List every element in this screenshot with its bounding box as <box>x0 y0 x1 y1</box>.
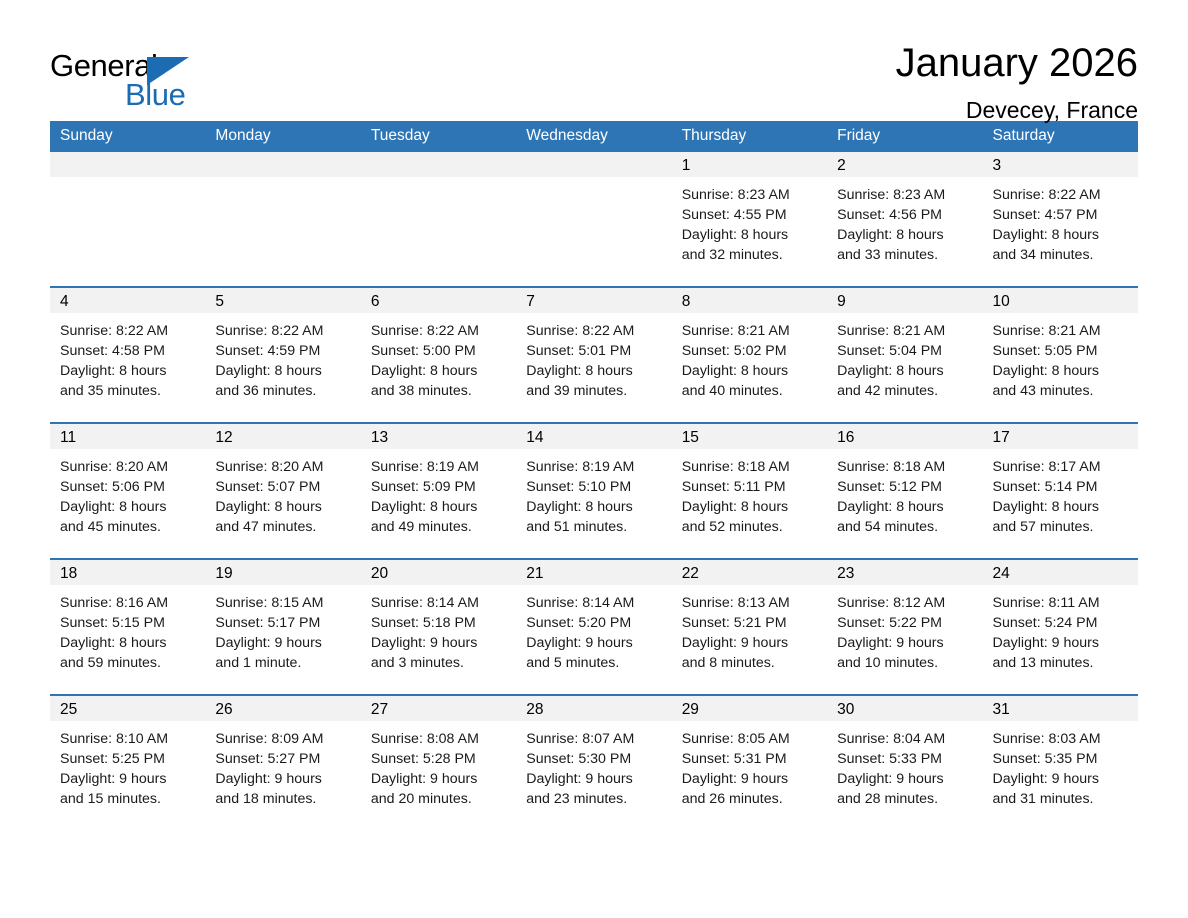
daylight-text-line2: and 39 minutes. <box>526 381 665 401</box>
calendar-day-cell[interactable]: 24 Sunrise: 8:11 AM Sunset: 5:24 PM Dayl… <box>983 559 1138 695</box>
sunrise-text: Sunrise: 8:20 AM <box>215 457 354 477</box>
calendar-day-cell[interactable]: 5 Sunrise: 8:22 AM Sunset: 4:59 PM Dayli… <box>205 287 360 423</box>
sunset-text: Sunset: 5:21 PM <box>682 613 821 633</box>
day-number: 30 <box>827 696 982 721</box>
day-details: Sunrise: 8:05 AM Sunset: 5:31 PM Dayligh… <box>672 721 827 809</box>
day-details: Sunrise: 8:07 AM Sunset: 5:30 PM Dayligh… <box>516 721 671 809</box>
day-number: 18 <box>50 560 205 585</box>
daylight-text-line1: Daylight: 8 hours <box>993 225 1132 245</box>
sunset-text: Sunset: 5:17 PM <box>215 613 354 633</box>
daylight-text-line2: and 26 minutes. <box>682 789 821 809</box>
calendar-day-cell[interactable]: 3 Sunrise: 8:22 AM Sunset: 4:57 PM Dayli… <box>983 152 1138 287</box>
daylight-text-line2: and 23 minutes. <box>526 789 665 809</box>
daylight-text-line1: Daylight: 9 hours <box>215 769 354 789</box>
sunset-text: Sunset: 4:57 PM <box>993 205 1132 225</box>
day-details: Sunrise: 8:08 AM Sunset: 5:28 PM Dayligh… <box>361 721 516 809</box>
calendar-day-cell[interactable]: 16 Sunrise: 8:18 AM Sunset: 5:12 PM Dayl… <box>827 423 982 559</box>
calendar-day-cell[interactable]: 9 Sunrise: 8:21 AM Sunset: 5:04 PM Dayli… <box>827 287 982 423</box>
sunset-text: Sunset: 5:18 PM <box>371 613 510 633</box>
daylight-text-line1: Daylight: 8 hours <box>60 633 199 653</box>
sunrise-text: Sunrise: 8:22 AM <box>215 321 354 341</box>
day-details: Sunrise: 8:12 AM Sunset: 5:22 PM Dayligh… <box>827 585 982 673</box>
day-number <box>50 152 205 177</box>
daylight-text-line1: Daylight: 8 hours <box>682 225 821 245</box>
sunrise-text: Sunrise: 8:18 AM <box>837 457 976 477</box>
day-details: Sunrise: 8:23 AM Sunset: 4:55 PM Dayligh… <box>672 177 827 265</box>
day-number: 1 <box>672 152 827 177</box>
sunrise-text: Sunrise: 8:16 AM <box>60 593 199 613</box>
daylight-text-line1: Daylight: 8 hours <box>837 225 976 245</box>
daylight-text-line2: and 15 minutes. <box>60 789 199 809</box>
calendar-day-cell[interactable]: 19 Sunrise: 8:15 AM Sunset: 5:17 PM Dayl… <box>205 559 360 695</box>
daylight-text-line2: and 32 minutes. <box>682 245 821 265</box>
page-header: General Blue January 2026 Devecey, Franc… <box>50 0 1138 104</box>
calendar-day-cell[interactable]: 12 Sunrise: 8:20 AM Sunset: 5:07 PM Dayl… <box>205 423 360 559</box>
calendar-day-cell[interactable] <box>50 152 205 287</box>
day-details: Sunrise: 8:16 AM Sunset: 5:15 PM Dayligh… <box>50 585 205 673</box>
day-number: 6 <box>361 288 516 313</box>
day-details: Sunrise: 8:04 AM Sunset: 5:33 PM Dayligh… <box>827 721 982 809</box>
day-number: 17 <box>983 424 1138 449</box>
daylight-text-line1: Daylight: 9 hours <box>837 633 976 653</box>
daylight-text-line1: Daylight: 9 hours <box>837 769 976 789</box>
day-number: 31 <box>983 696 1138 721</box>
calendar-day-cell[interactable]: 1 Sunrise: 8:23 AM Sunset: 4:55 PM Dayli… <box>672 152 827 287</box>
calendar-day-cell[interactable]: 29 Sunrise: 8:05 AM Sunset: 5:31 PM Dayl… <box>672 695 827 830</box>
calendar-day-cell[interactable]: 21 Sunrise: 8:14 AM Sunset: 5:20 PM Dayl… <box>516 559 671 695</box>
day-number: 19 <box>205 560 360 585</box>
sunset-text: Sunset: 5:25 PM <box>60 749 199 769</box>
day-details: Sunrise: 8:22 AM Sunset: 4:58 PM Dayligh… <box>50 313 205 401</box>
calendar-page: General Blue January 2026 Devecey, Franc… <box>0 0 1188 918</box>
calendar-day-cell[interactable]: 15 Sunrise: 8:18 AM Sunset: 5:11 PM Dayl… <box>672 423 827 559</box>
sunset-text: Sunset: 5:20 PM <box>526 613 665 633</box>
day-details: Sunrise: 8:21 AM Sunset: 5:04 PM Dayligh… <box>827 313 982 401</box>
daylight-text-line1: Daylight: 9 hours <box>682 769 821 789</box>
day-number: 25 <box>50 696 205 721</box>
daylight-text-line1: Daylight: 8 hours <box>682 497 821 517</box>
calendar-week-row: 18 Sunrise: 8:16 AM Sunset: 5:15 PM Dayl… <box>50 559 1138 695</box>
sunset-text: Sunset: 4:58 PM <box>60 341 199 361</box>
calendar-day-cell[interactable]: 14 Sunrise: 8:19 AM Sunset: 5:10 PM Dayl… <box>516 423 671 559</box>
sunset-text: Sunset: 5:22 PM <box>837 613 976 633</box>
calendar-day-cell[interactable] <box>361 152 516 287</box>
daylight-text-line2: and 40 minutes. <box>682 381 821 401</box>
daylight-text-line2: and 10 minutes. <box>837 653 976 673</box>
daylight-text-line2: and 42 minutes. <box>837 381 976 401</box>
day-number: 22 <box>672 560 827 585</box>
day-details: Sunrise: 8:23 AM Sunset: 4:56 PM Dayligh… <box>827 177 982 265</box>
calendar-day-cell[interactable]: 28 Sunrise: 8:07 AM Sunset: 5:30 PM Dayl… <box>516 695 671 830</box>
sunset-text: Sunset: 5:24 PM <box>993 613 1132 633</box>
daylight-text-line1: Daylight: 9 hours <box>682 633 821 653</box>
sunrise-text: Sunrise: 8:22 AM <box>993 185 1132 205</box>
day-number: 20 <box>361 560 516 585</box>
day-details: Sunrise: 8:22 AM Sunset: 4:59 PM Dayligh… <box>205 313 360 401</box>
day-number: 8 <box>672 288 827 313</box>
day-number: 9 <box>827 288 982 313</box>
calendar-week-row: 11 Sunrise: 8:20 AM Sunset: 5:06 PM Dayl… <box>50 423 1138 559</box>
sunset-text: Sunset: 5:02 PM <box>682 341 821 361</box>
daylight-text-line1: Daylight: 8 hours <box>526 497 665 517</box>
sunset-text: Sunset: 5:04 PM <box>837 341 976 361</box>
sunrise-text: Sunrise: 8:21 AM <box>837 321 976 341</box>
day-details: Sunrise: 8:21 AM Sunset: 5:02 PM Dayligh… <box>672 313 827 401</box>
day-details: Sunrise: 8:14 AM Sunset: 5:18 PM Dayligh… <box>361 585 516 673</box>
calendar-day-cell[interactable]: 17 Sunrise: 8:17 AM Sunset: 5:14 PM Dayl… <box>983 423 1138 559</box>
sunrise-text: Sunrise: 8:12 AM <box>837 593 976 613</box>
sunrise-text: Sunrise: 8:20 AM <box>60 457 199 477</box>
day-number: 28 <box>516 696 671 721</box>
sunset-text: Sunset: 5:05 PM <box>993 341 1132 361</box>
sunset-text: Sunset: 5:06 PM <box>60 477 199 497</box>
day-details: Sunrise: 8:22 AM Sunset: 4:57 PM Dayligh… <box>983 177 1138 265</box>
day-number: 4 <box>50 288 205 313</box>
day-number: 26 <box>205 696 360 721</box>
day-details: Sunrise: 8:19 AM Sunset: 5:09 PM Dayligh… <box>361 449 516 537</box>
sunrise-text: Sunrise: 8:22 AM <box>371 321 510 341</box>
daylight-text-line1: Daylight: 8 hours <box>837 497 976 517</box>
daylight-text-line1: Daylight: 8 hours <box>371 497 510 517</box>
sunset-text: Sunset: 5:00 PM <box>371 341 510 361</box>
calendar-week-row: 1 Sunrise: 8:23 AM Sunset: 4:55 PM Dayli… <box>50 152 1138 287</box>
daylight-text-line2: and 13 minutes. <box>993 653 1132 673</box>
day-details: Sunrise: 8:17 AM Sunset: 5:14 PM Dayligh… <box>983 449 1138 537</box>
day-details: Sunrise: 8:14 AM Sunset: 5:20 PM Dayligh… <box>516 585 671 673</box>
day-details: Sunrise: 8:22 AM Sunset: 5:00 PM Dayligh… <box>361 313 516 401</box>
day-number: 13 <box>361 424 516 449</box>
daylight-text-line1: Daylight: 8 hours <box>371 361 510 381</box>
day-number: 29 <box>672 696 827 721</box>
sunset-text: Sunset: 5:09 PM <box>371 477 510 497</box>
sunrise-text: Sunrise: 8:18 AM <box>682 457 821 477</box>
sunrise-text: Sunrise: 8:14 AM <box>526 593 665 613</box>
day-details: Sunrise: 8:19 AM Sunset: 5:10 PM Dayligh… <box>516 449 671 537</box>
sunrise-text: Sunrise: 8:10 AM <box>60 729 199 749</box>
day-number: 12 <box>205 424 360 449</box>
daylight-text-line1: Daylight: 9 hours <box>993 769 1132 789</box>
daylight-text-line2: and 45 minutes. <box>60 517 199 537</box>
day-number: 27 <box>361 696 516 721</box>
sunset-text: Sunset: 4:59 PM <box>215 341 354 361</box>
daylight-text-line2: and 34 minutes. <box>993 245 1132 265</box>
calendar-table: Sunday Monday Tuesday Wednesday Thursday… <box>50 121 1138 830</box>
day-number: 16 <box>827 424 982 449</box>
daylight-text-line2: and 28 minutes. <box>837 789 976 809</box>
day-details <box>516 177 671 185</box>
weekday-header-tuesday: Tuesday <box>361 121 516 152</box>
title-block: January 2026 Devecey, France <box>896 42 1138 124</box>
sunset-text: Sunset: 5:35 PM <box>993 749 1132 769</box>
daylight-text-line2: and 1 minute. <box>215 653 354 673</box>
daylight-text-line1: Daylight: 8 hours <box>837 361 976 381</box>
daylight-text-line1: Daylight: 9 hours <box>371 769 510 789</box>
daylight-text-line2: and 35 minutes. <box>60 381 199 401</box>
day-details: Sunrise: 8:13 AM Sunset: 5:21 PM Dayligh… <box>672 585 827 673</box>
daylight-text-line2: and 57 minutes. <box>993 517 1132 537</box>
day-details <box>205 177 360 185</box>
daylight-text-line1: Daylight: 9 hours <box>371 633 510 653</box>
sunrise-text: Sunrise: 8:08 AM <box>371 729 510 749</box>
day-number: 11 <box>50 424 205 449</box>
calendar-day-cell[interactable]: 30 Sunrise: 8:04 AM Sunset: 5:33 PM Dayl… <box>827 695 982 830</box>
daylight-text-line1: Daylight: 8 hours <box>60 361 199 381</box>
calendar-day-cell[interactable]: 7 Sunrise: 8:22 AM Sunset: 5:01 PM Dayli… <box>516 287 671 423</box>
sunset-text: Sunset: 4:55 PM <box>682 205 821 225</box>
calendar-day-cell[interactable]: 10 Sunrise: 8:21 AM Sunset: 5:05 PM Dayl… <box>983 287 1138 423</box>
weekday-header-sunday: Sunday <box>50 121 205 152</box>
calendar-day-cell[interactable]: 23 Sunrise: 8:12 AM Sunset: 5:22 PM Dayl… <box>827 559 982 695</box>
sunset-text: Sunset: 5:07 PM <box>215 477 354 497</box>
sunrise-text: Sunrise: 8:13 AM <box>682 593 821 613</box>
daylight-text-line2: and 31 minutes. <box>993 789 1132 809</box>
day-details: Sunrise: 8:03 AM Sunset: 5:35 PM Dayligh… <box>983 721 1138 809</box>
sunset-text: Sunset: 5:33 PM <box>837 749 976 769</box>
weekday-header-wednesday: Wednesday <box>516 121 671 152</box>
calendar-day-cell[interactable]: 20 Sunrise: 8:14 AM Sunset: 5:18 PM Dayl… <box>361 559 516 695</box>
sunrise-text: Sunrise: 8:14 AM <box>371 593 510 613</box>
sunset-text: Sunset: 5:14 PM <box>993 477 1132 497</box>
calendar-day-cell[interactable]: 18 Sunrise: 8:16 AM Sunset: 5:15 PM Dayl… <box>50 559 205 695</box>
sunrise-text: Sunrise: 8:17 AM <box>993 457 1132 477</box>
daylight-text-line2: and 52 minutes. <box>682 517 821 537</box>
daylight-text-line1: Daylight: 8 hours <box>682 361 821 381</box>
daylight-text-line2: and 38 minutes. <box>371 381 510 401</box>
sunrise-text: Sunrise: 8:21 AM <box>682 321 821 341</box>
sunset-text: Sunset: 5:28 PM <box>371 749 510 769</box>
sunrise-text: Sunrise: 8:19 AM <box>526 457 665 477</box>
sunset-text: Sunset: 5:15 PM <box>60 613 199 633</box>
day-number <box>361 152 516 177</box>
weekday-header-saturday: Saturday <box>983 121 1138 152</box>
sunrise-text: Sunrise: 8:15 AM <box>215 593 354 613</box>
daylight-text-line1: Daylight: 9 hours <box>526 769 665 789</box>
calendar-day-cell[interactable]: 13 Sunrise: 8:19 AM Sunset: 5:09 PM Dayl… <box>361 423 516 559</box>
daylight-text-line2: and 33 minutes. <box>837 245 976 265</box>
day-details <box>50 177 205 185</box>
daylight-text-line2: and 8 minutes. <box>682 653 821 673</box>
daylight-text-line1: Daylight: 8 hours <box>993 497 1132 517</box>
calendar-day-cell[interactable]: 31 Sunrise: 8:03 AM Sunset: 5:35 PM Dayl… <box>983 695 1138 830</box>
day-number: 21 <box>516 560 671 585</box>
sunset-text: Sunset: 4:56 PM <box>837 205 976 225</box>
day-number: 23 <box>827 560 982 585</box>
day-details: Sunrise: 8:18 AM Sunset: 5:11 PM Dayligh… <box>672 449 827 537</box>
page-title: January 2026 <box>896 42 1138 84</box>
calendar-day-cell[interactable]: 2 Sunrise: 8:23 AM Sunset: 4:56 PM Dayli… <box>827 152 982 287</box>
calendar-day-cell[interactable]: 6 Sunrise: 8:22 AM Sunset: 5:00 PM Dayli… <box>361 287 516 423</box>
day-details: Sunrise: 8:09 AM Sunset: 5:27 PM Dayligh… <box>205 721 360 809</box>
calendar-body: 1 Sunrise: 8:23 AM Sunset: 4:55 PM Dayli… <box>50 152 1138 830</box>
sunset-text: Sunset: 5:31 PM <box>682 749 821 769</box>
day-number: 3 <box>983 152 1138 177</box>
day-details: Sunrise: 8:22 AM Sunset: 5:01 PM Dayligh… <box>516 313 671 401</box>
sunrise-text: Sunrise: 8:05 AM <box>682 729 821 749</box>
daylight-text-line2: and 20 minutes. <box>371 789 510 809</box>
day-number: 14 <box>516 424 671 449</box>
sunset-text: Sunset: 5:12 PM <box>837 477 976 497</box>
calendar-day-cell[interactable]: 25 Sunrise: 8:10 AM Sunset: 5:25 PM Dayl… <box>50 695 205 830</box>
daylight-text-line1: Daylight: 8 hours <box>215 497 354 517</box>
calendar-day-cell[interactable]: 4 Sunrise: 8:22 AM Sunset: 4:58 PM Dayli… <box>50 287 205 423</box>
weekday-header-friday: Friday <box>827 121 982 152</box>
weekday-header-monday: Monday <box>205 121 360 152</box>
sunrise-text: Sunrise: 8:22 AM <box>526 321 665 341</box>
sunrise-text: Sunrise: 8:22 AM <box>60 321 199 341</box>
day-number: 5 <box>205 288 360 313</box>
calendar-day-cell[interactable]: 26 Sunrise: 8:09 AM Sunset: 5:27 PM Dayl… <box>205 695 360 830</box>
daylight-text-line2: and 47 minutes. <box>215 517 354 537</box>
day-number: 7 <box>516 288 671 313</box>
daylight-text-line2: and 18 minutes. <box>215 789 354 809</box>
day-details: Sunrise: 8:10 AM Sunset: 5:25 PM Dayligh… <box>50 721 205 809</box>
daylight-text-line2: and 5 minutes. <box>526 653 665 673</box>
sunrise-text: Sunrise: 8:11 AM <box>993 593 1132 613</box>
calendar-week-row: 4 Sunrise: 8:22 AM Sunset: 4:58 PM Dayli… <box>50 287 1138 423</box>
day-number: 10 <box>983 288 1138 313</box>
daylight-text-line1: Daylight: 8 hours <box>60 497 199 517</box>
daylight-text-line2: and 43 minutes. <box>993 381 1132 401</box>
weekday-header-thursday: Thursday <box>672 121 827 152</box>
sunset-text: Sunset: 5:01 PM <box>526 341 665 361</box>
calendar-day-cell[interactable]: 27 Sunrise: 8:08 AM Sunset: 5:28 PM Dayl… <box>361 695 516 830</box>
calendar-day-cell[interactable]: 11 Sunrise: 8:20 AM Sunset: 5:06 PM Dayl… <box>50 423 205 559</box>
sunset-text: Sunset: 5:27 PM <box>215 749 354 769</box>
daylight-text-line1: Daylight: 8 hours <box>993 361 1132 381</box>
daylight-text-line1: Daylight: 9 hours <box>526 633 665 653</box>
page-subtitle-location: Devecey, France <box>896 97 1138 124</box>
daylight-text-line1: Daylight: 8 hours <box>215 361 354 381</box>
sunset-text: Sunset: 5:11 PM <box>682 477 821 497</box>
day-details: Sunrise: 8:20 AM Sunset: 5:07 PM Dayligh… <box>205 449 360 537</box>
sunset-text: Sunset: 5:10 PM <box>526 477 665 497</box>
day-details: Sunrise: 8:20 AM Sunset: 5:06 PM Dayligh… <box>50 449 205 537</box>
sunrise-text: Sunrise: 8:04 AM <box>837 729 976 749</box>
sunrise-text: Sunrise: 8:03 AM <box>993 729 1132 749</box>
daylight-text-line2: and 54 minutes. <box>837 517 976 537</box>
day-number: 24 <box>983 560 1138 585</box>
day-number <box>205 152 360 177</box>
daylight-text-line2: and 49 minutes. <box>371 517 510 537</box>
daylight-text-line1: Daylight: 9 hours <box>993 633 1132 653</box>
day-details: Sunrise: 8:11 AM Sunset: 5:24 PM Dayligh… <box>983 585 1138 673</box>
day-details <box>361 177 516 185</box>
daylight-text-line2: and 51 minutes. <box>526 517 665 537</box>
sunrise-text: Sunrise: 8:21 AM <box>993 321 1132 341</box>
daylight-text-line2: and 59 minutes. <box>60 653 199 673</box>
day-details: Sunrise: 8:18 AM Sunset: 5:12 PM Dayligh… <box>827 449 982 537</box>
calendar-header-row: Sunday Monday Tuesday Wednesday Thursday… <box>50 121 1138 152</box>
day-number: 15 <box>672 424 827 449</box>
calendar-week-row: 25 Sunrise: 8:10 AM Sunset: 5:25 PM Dayl… <box>50 695 1138 830</box>
sunrise-text: Sunrise: 8:23 AM <box>837 185 976 205</box>
sunrise-text: Sunrise: 8:07 AM <box>526 729 665 749</box>
daylight-text-line1: Daylight: 9 hours <box>215 633 354 653</box>
day-details: Sunrise: 8:21 AM Sunset: 5:05 PM Dayligh… <box>983 313 1138 401</box>
sunset-text: Sunset: 5:30 PM <box>526 749 665 769</box>
daylight-text-line1: Daylight: 8 hours <box>526 361 665 381</box>
generalblue-logo: General Blue <box>50 42 200 114</box>
daylight-text-line2: and 3 minutes. <box>371 653 510 673</box>
calendar-day-cell[interactable] <box>205 152 360 287</box>
day-number <box>516 152 671 177</box>
day-details: Sunrise: 8:15 AM Sunset: 5:17 PM Dayligh… <box>205 585 360 673</box>
sunrise-text: Sunrise: 8:19 AM <box>371 457 510 477</box>
calendar-day-cell[interactable]: 8 Sunrise: 8:21 AM Sunset: 5:02 PM Dayli… <box>672 287 827 423</box>
day-number: 2 <box>827 152 982 177</box>
sunrise-text: Sunrise: 8:09 AM <box>215 729 354 749</box>
calendar-day-cell[interactable]: 22 Sunrise: 8:13 AM Sunset: 5:21 PM Dayl… <box>672 559 827 695</box>
daylight-text-line1: Daylight: 9 hours <box>60 769 199 789</box>
logo-text-blue: Blue <box>125 79 185 110</box>
daylight-text-line2: and 36 minutes. <box>215 381 354 401</box>
calendar-day-cell[interactable] <box>516 152 671 287</box>
sunrise-text: Sunrise: 8:23 AM <box>682 185 821 205</box>
